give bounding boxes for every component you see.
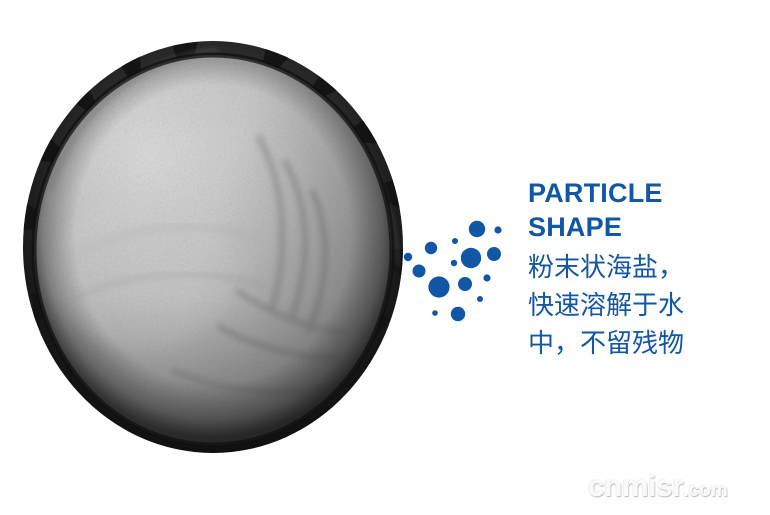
bowl-illustration [22, 40, 404, 454]
headline-line-1: PARTICLE [528, 178, 663, 208]
particle-dot-3 [452, 238, 458, 244]
particle-dots-cluster-icon [398, 218, 510, 326]
particle-dot-15 [432, 310, 438, 316]
particle-dot-8 [461, 248, 481, 268]
particle-dot-2 [425, 242, 437, 254]
particle-dot-6 [469, 221, 485, 237]
headline-line-2: SHAPE [528, 210, 758, 244]
particle-dot-13 [477, 296, 483, 302]
page-canvas: PARTICLE SHAPE 粉末状海盐， 快速溶解于水 中，不留残物 cnmi… [0, 0, 770, 515]
particle-dot-4 [413, 265, 426, 278]
watermark-text: cnmisr [588, 470, 683, 503]
particle-dots-svg [398, 218, 510, 326]
bowl-image [22, 40, 404, 454]
particle-dot-14 [451, 307, 465, 321]
description-line-1: 粉末状海盐， [528, 249, 758, 287]
product-photo-salt-bowl [22, 40, 404, 454]
page-title: PARTICLE SHAPE [528, 176, 758, 244]
cnmisr-watermark: cnmisr.com [588, 470, 768, 510]
feature-text-block: PARTICLE SHAPE 粉末状海盐， 快速溶解于水 中，不留残物 [528, 176, 758, 363]
description-line-3: 中，不留残物 [528, 325, 758, 363]
watermark-tld: .com [683, 480, 727, 501]
feature-description: 粉末状海盐， 快速溶解于水 中，不留残物 [528, 249, 758, 363]
particle-dot-12 [458, 277, 472, 291]
particle-dot-1 [404, 253, 412, 261]
particle-dot-11 [428, 276, 449, 297]
particle-dot-9 [487, 247, 501, 261]
description-line-2: 快速溶解于水 [528, 287, 758, 325]
particle-dot-5 [451, 260, 457, 266]
particle-dot-7 [494, 226, 501, 233]
particle-dot-10 [483, 274, 490, 281]
